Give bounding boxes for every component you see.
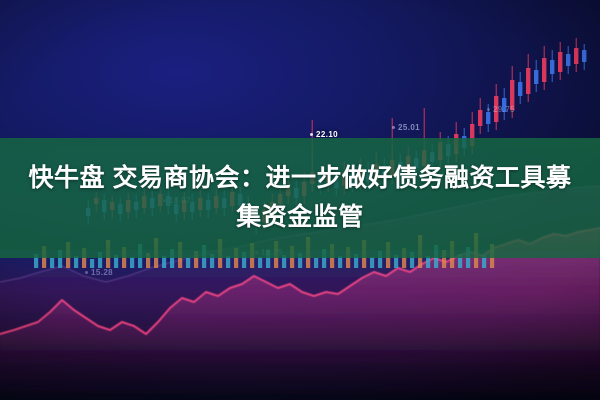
vignette-overlay: [0, 0, 600, 400]
banner-image: 22.1025.0129.7518.0718.7515.28 快牛盘 交易商协会…: [0, 0, 600, 400]
